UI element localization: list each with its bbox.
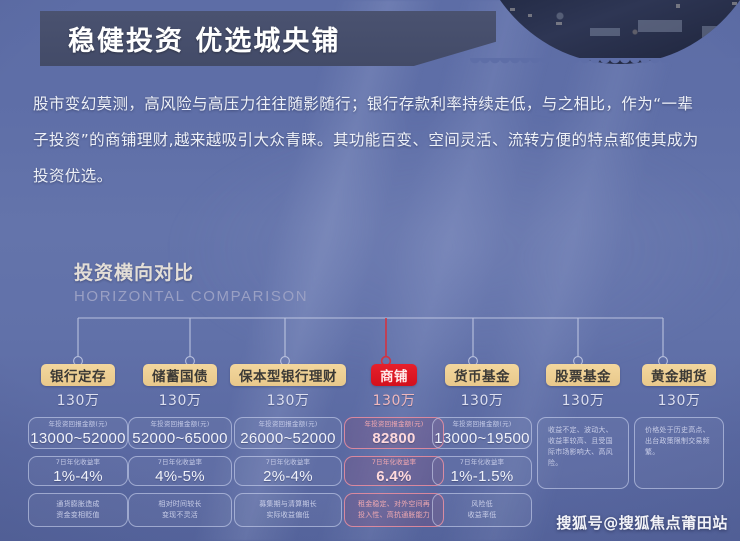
yield-caption: 7日年化收益率 <box>266 458 311 467</box>
note-text: 通货膨胀造成资金变相贬值 <box>56 499 99 521</box>
note-text: 相对时间较长变现不灵活 <box>158 499 201 521</box>
return-value: 52000~65000 <box>132 430 227 447</box>
note-box: 募集期与清算期长实际收益偏低 <box>234 493 342 527</box>
yield-box: 7日年化收益率 4%-5% <box>128 456 232 486</box>
comparison-column-money-fund[interactable]: 货币基金 130万 年投资回报金额(元) 13000~19500 7日年化收益率… <box>432 364 532 527</box>
return-box: 年投资回报金额(元) 13000~19500 <box>432 417 532 449</box>
comparison-column-bank-deposit[interactable]: 银行定存 130万 年投资回报金额(元) 13000~52000 7日年化收益率… <box>28 364 128 527</box>
return-caption: 年投资回报金额(元) <box>150 420 209 429</box>
note-box: 租金稳定、对外空间再投入性、高抗通胀能力 <box>344 493 444 527</box>
return-caption: 年投资回报金额(元) <box>452 420 511 429</box>
section-heading: 投资横向对比 HORIZONTAL COMPARISON <box>74 258 308 305</box>
yield-value: 1%-4% <box>53 468 103 485</box>
return-value: 82800 <box>372 430 415 447</box>
yield-value: 4%-5% <box>155 468 205 485</box>
yield-caption: 7日年化收益率 <box>460 458 505 467</box>
intro-paragraph: 股市变幻莫测，高风险与高压力往往随影随行；银行存款利率持续走低，与之相比，作为“… <box>33 86 709 194</box>
column-pill-label[interactable]: 股票基金 <box>546 364 620 386</box>
watermark: 搜狐号@搜狐焦点莆田站 <box>556 512 728 533</box>
return-value: 13000~19500 <box>434 430 529 447</box>
note-box: 相对时间较长变现不灵活 <box>128 493 232 527</box>
comparison-column-shop[interactable]: 商铺 130万 年投资回报金额(元) 82800 7日年化收益率 6.4% 租金… <box>344 364 444 527</box>
note-text: 价格处于历史高点、出台政策限制交易频繁。 <box>639 425 719 458</box>
column-pill-label[interactable]: 保本型银行理财 <box>230 364 346 386</box>
yield-caption: 7日年化收益率 <box>158 458 203 467</box>
return-box: 年投资回报金额(元) 26000~52000 <box>234 417 342 449</box>
yield-caption: 7日年化收益率 <box>56 458 101 467</box>
column-pill-label[interactable]: 银行定存 <box>41 364 115 386</box>
column-amount: 130万 <box>57 390 100 410</box>
yield-caption: 7日年化收益率 <box>372 458 417 467</box>
column-amount: 130万 <box>461 390 504 410</box>
comparison-column-gold-futures[interactable]: 黄金期货 130万 价格处于历史高点、出台政策限制交易频繁。 <box>634 364 724 489</box>
yield-value: 6.4% <box>376 468 411 485</box>
section-title-en: HORIZONTAL COMPARISON <box>74 288 308 305</box>
comparison-column-equity-fund[interactable]: 股票基金 130万 收益不定、波动大、收益率较高、且受国际市场影响大、高风险。 <box>537 364 629 489</box>
return-value: 13000~52000 <box>30 430 125 447</box>
column-pill-label[interactable]: 商铺 <box>371 364 417 386</box>
column-amount: 130万 <box>658 390 701 410</box>
note-text: 租金稳定、对外空间再投入性、高抗通胀能力 <box>358 499 430 521</box>
column-amount: 130万 <box>159 390 202 410</box>
yield-value: 2%-4% <box>263 468 313 485</box>
note-text: 募集期与清算期长实际收益偏低 <box>259 499 317 521</box>
column-pill-label[interactable]: 货币基金 <box>445 364 519 386</box>
section-title-cn: 投资横向对比 <box>74 258 308 285</box>
return-box: 年投资回报金额(元) 52000~65000 <box>128 417 232 449</box>
note-box: 价格处于历史高点、出台政策限制交易频繁。 <box>634 417 724 489</box>
note-text: 风险低收益率低 <box>468 499 497 521</box>
note-box: 通货膨胀造成资金变相贬值 <box>28 493 128 527</box>
column-pill-label[interactable]: 储蓄国债 <box>143 364 217 386</box>
return-caption: 年投资回报金额(元) <box>48 420 107 429</box>
yield-box: 7日年化收益率 2%-4% <box>234 456 342 486</box>
return-box: 年投资回报金额(元) 13000~52000 <box>28 417 128 449</box>
note-text: 收益不定、波动大、收益率较高、且受国际市场影响大、高风险。 <box>542 425 624 469</box>
comparison-column-savings-bond[interactable]: 储蓄国债 130万 年投资回报金额(元) 52000~65000 7日年化收益率… <box>128 364 232 527</box>
yield-box: 7日年化收益率 1%-4% <box>28 456 128 486</box>
yield-value: 1%-1.5% <box>451 468 514 485</box>
column-pill-label[interactable]: 黄金期货 <box>642 364 716 386</box>
page-title: 稳健投资 优选城央铺 <box>68 19 340 58</box>
photo-scalloped-edge <box>470 58 740 84</box>
yield-box: 7日年化收益率 6.4% <box>344 456 444 486</box>
column-amount: 130万 <box>562 390 605 410</box>
note-box: 风险低收益率低 <box>432 493 532 527</box>
return-value: 26000~52000 <box>240 430 335 447</box>
yield-box: 7日年化收益率 1%-1.5% <box>432 456 532 486</box>
note-box: 收益不定、波动大、收益率较高、且受国际市场影响大、高风险。 <box>537 417 629 489</box>
title-banner: 稳健投资 优选城央铺 <box>40 11 496 66</box>
return-caption: 年投资回报金额(元) <box>364 420 423 429</box>
column-amount: 130万 <box>373 390 416 410</box>
column-amount: 130万 <box>267 390 310 410</box>
connector-bracket <box>0 312 740 370</box>
return-caption: 年投资回报金额(元) <box>258 420 317 429</box>
comparison-column-principal-guaranteed[interactable]: 保本型银行理财 130万 年投资回报金额(元) 26000~52000 7日年化… <box>232 364 344 527</box>
return-box: 年投资回报金额(元) 82800 <box>344 417 444 449</box>
